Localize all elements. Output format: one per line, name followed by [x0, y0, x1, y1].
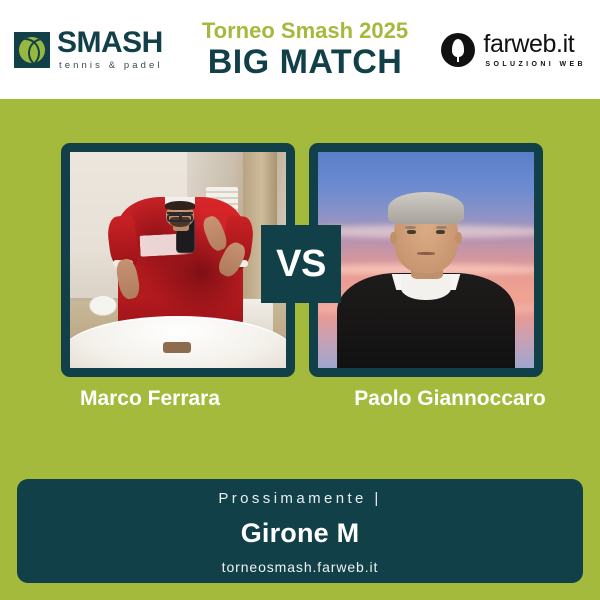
- photo-person-arm-left: [114, 257, 141, 300]
- photo-person-head: [394, 200, 459, 273]
- photo-person-torso: [118, 197, 243, 331]
- player-name-right: Paolo Giannoccaro: [300, 387, 600, 411]
- photo-person-ear-right: [455, 232, 461, 244]
- tennis-ball-shape: [19, 37, 45, 63]
- vs-label: VS: [276, 245, 326, 283]
- farweb-leaf-icon: [441, 33, 475, 67]
- player-names-row: Marco Ferrara Paolo Giannoccaro: [0, 387, 600, 411]
- smash-wordmark: SMASH: [57, 28, 163, 58]
- farweb-wordmark-group: farweb.it SOLUZIONI WEB: [483, 32, 586, 68]
- photo-person-brow-left: [405, 226, 416, 229]
- tournament-title: Torneo Smash 2025: [174, 18, 436, 43]
- upcoming-banner: Prossimamente | Girone M torneosmash.far…: [17, 479, 583, 583]
- poster-title-block: Torneo Smash 2025 BIG MATCH: [174, 18, 436, 82]
- smash-tagline: tennis & padel: [57, 61, 163, 71]
- photo-person-mouth: [417, 252, 435, 255]
- group-label: Girone M: [241, 520, 360, 547]
- photo-person-eye-left: [407, 230, 416, 234]
- photo-bg-sink-fixture: [163, 342, 191, 353]
- leaf-stem-shape: [457, 41, 459, 62]
- photo-person-torso: [337, 273, 514, 368]
- match-area: VS: [0, 99, 600, 479]
- photo-jersey-sponsor-print: [140, 232, 209, 257]
- upcoming-label: Prossimamente |: [218, 491, 381, 506]
- smash-logo: SMASH tennis & padel: [14, 28, 174, 71]
- player-name-left: Marco Ferrara: [0, 387, 300, 411]
- photo-person-hair: [165, 201, 195, 210]
- player-photo-paolo-giannoccaro: [318, 152, 534, 368]
- vs-badge: VS: [261, 225, 341, 303]
- photo-person-hair: [388, 192, 463, 224]
- photo-person-head: [166, 204, 194, 227]
- photo-person-glasses: [167, 212, 192, 218]
- poster-header: SMASH tennis & padel Torneo Smash 2025 B…: [0, 0, 600, 99]
- photo-person-eye-right: [436, 230, 445, 234]
- player-photo-frame-left: [61, 143, 295, 377]
- farweb-logo: farweb.it SOLUZIONI WEB: [436, 32, 586, 68]
- player-photo-marco-ferrara: [70, 152, 286, 368]
- farweb-wordmark: farweb.it: [483, 32, 586, 57]
- player-photo-frame-right: [309, 143, 543, 377]
- big-match-title: BIG MATCH: [174, 44, 436, 81]
- farweb-tagline: SOLUZIONI WEB: [483, 61, 586, 68]
- tennis-ball-icon: [14, 32, 50, 68]
- photo-person-ear-left: [390, 232, 396, 244]
- photo-person-brow-right: [436, 226, 447, 229]
- smash-wordmark-group: SMASH tennis & padel: [57, 28, 163, 71]
- match-announcement-poster: SMASH tennis & padel Torneo Smash 2025 B…: [0, 0, 600, 600]
- tournament-url: torneosmash.farweb.it: [222, 560, 379, 574]
